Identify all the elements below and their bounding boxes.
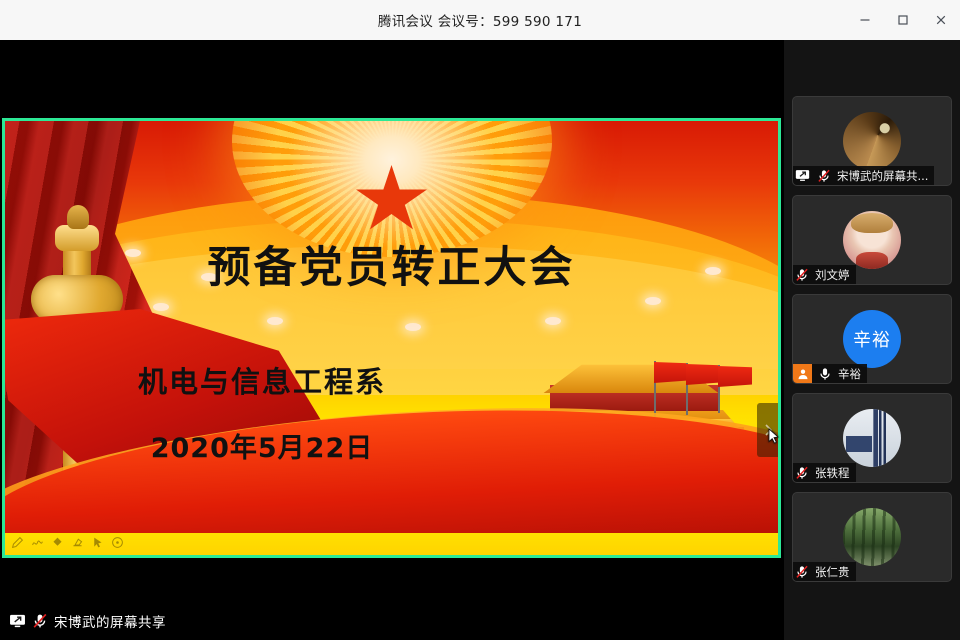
lamp-dot bbox=[405, 323, 421, 331]
participant-namebar: 辛裕 bbox=[793, 364, 867, 383]
mic-muted-icon bbox=[793, 463, 811, 482]
close-button[interactable] bbox=[922, 0, 960, 40]
participant-tile[interactable]: 张仁贵 bbox=[792, 492, 952, 582]
ink-squiggle-icon[interactable] bbox=[31, 536, 44, 549]
red-flag bbox=[654, 362, 688, 383]
maximize-button[interactable] bbox=[884, 0, 922, 40]
pen-icon[interactable] bbox=[11, 536, 24, 549]
participant-name: 刘文婷 bbox=[815, 267, 850, 283]
host-badge-icon bbox=[793, 364, 812, 383]
participant-namebar: 刘文婷 bbox=[793, 265, 856, 284]
avatar-initials: 辛裕 bbox=[843, 310, 901, 368]
slide-title: 预备党员转正大会 bbox=[5, 233, 778, 295]
highlighter-icon[interactable] bbox=[51, 536, 64, 549]
participant-name: 宋博武的屏幕共... bbox=[837, 168, 928, 184]
slide-subtitle: 机电与信息工程系 bbox=[27, 359, 497, 401]
participant-namebar: 宋博武的屏幕共... bbox=[793, 166, 934, 185]
avatar bbox=[843, 112, 901, 170]
avatar: 辛裕 bbox=[843, 310, 901, 368]
lamp-dot bbox=[645, 297, 661, 305]
avatar bbox=[843, 409, 901, 467]
screen-share-frame: 中华人民共和国万岁 预备党员转正大会 机电与信息工程系 2020年5月22日 bbox=[2, 118, 781, 558]
eraser-icon[interactable] bbox=[71, 536, 84, 549]
avatar bbox=[843, 508, 901, 566]
minimize-button[interactable] bbox=[846, 0, 884, 40]
mic-muted-icon bbox=[793, 265, 811, 284]
window-title: 腾讯会议 会议号：599 590 171 bbox=[378, 10, 582, 30]
mic-muted-icon bbox=[815, 166, 833, 185]
share-status-bar: 宋博武的屏幕共享 bbox=[8, 610, 166, 632]
lamp-dot bbox=[267, 317, 283, 325]
huabiao-beast bbox=[67, 205, 89, 229]
slide-date: 2020年5月22日 bbox=[27, 426, 497, 465]
presentation-slide: 中华人民共和国万岁 预备党员转正大会 机电与信息工程系 2020年5月22日 bbox=[5, 121, 778, 555]
participant-name: 张仁贵 bbox=[815, 564, 850, 580]
participant-namebar: 张轶程 bbox=[793, 463, 856, 482]
mic-on-icon bbox=[816, 364, 834, 383]
screen-share-icon bbox=[793, 166, 811, 185]
participant-tile[interactable]: 刘文婷 bbox=[792, 195, 952, 285]
shared-screen-stage: 中华人民共和国万岁 预备党员转正大会 机电与信息工程系 2020年5月22日 bbox=[0, 40, 784, 640]
participant-tile[interactable]: 张轶程 bbox=[792, 393, 952, 483]
share-status-label: 宋博武的屏幕共享 bbox=[54, 611, 166, 631]
avatar bbox=[843, 211, 901, 269]
presenter-ink-toolbar[interactable] bbox=[11, 536, 124, 549]
lamp-dot bbox=[153, 303, 169, 311]
window-title-bar: 腾讯会议 会议号：599 590 171 bbox=[0, 0, 960, 40]
window-controls bbox=[846, 0, 960, 40]
red-flag bbox=[718, 366, 752, 387]
more-options-icon[interactable] bbox=[111, 536, 124, 549]
mouse-cursor bbox=[768, 428, 780, 445]
screen-share-icon bbox=[8, 612, 26, 631]
participant-tile[interactable]: 辛裕 辛裕 bbox=[792, 294, 952, 384]
mic-muted-icon bbox=[31, 612, 49, 631]
mic-muted-icon bbox=[793, 562, 811, 581]
lamp-dot bbox=[545, 317, 561, 325]
participant-namebar: 张仁贵 bbox=[793, 562, 856, 581]
participant-tile[interactable]: 宋博武的屏幕共... bbox=[792, 96, 952, 186]
participant-name: 张轶程 bbox=[815, 465, 850, 481]
pointer-icon[interactable] bbox=[91, 536, 104, 549]
participant-name: 辛裕 bbox=[838, 366, 861, 382]
participants-panel: 宋博武的屏幕共... 刘文婷 辛裕 bbox=[784, 40, 960, 640]
red-flag bbox=[686, 364, 720, 385]
